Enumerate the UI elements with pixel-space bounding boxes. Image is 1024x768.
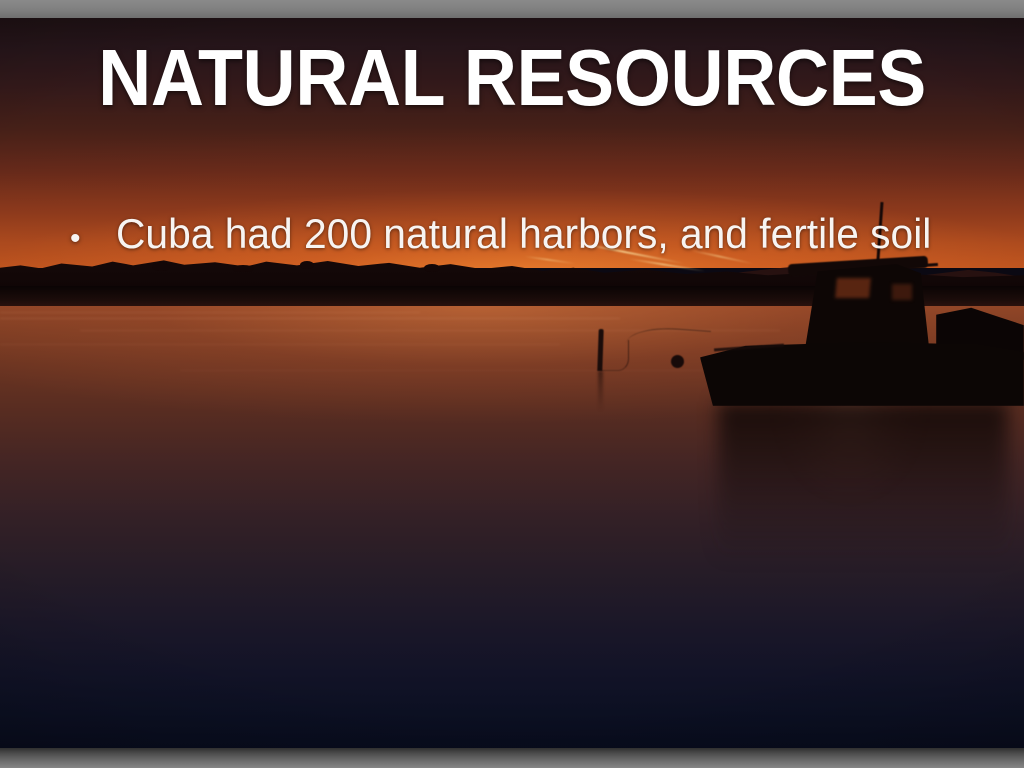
bullet-list: • Cuba had 200 natural harbors, and fert… (58, 208, 1008, 265)
bullet-list-item-text: Cuba had 200 natural harbors, and fertil… (116, 208, 931, 260)
water-sheen-line (0, 312, 420, 313)
boat-window (835, 278, 871, 298)
bullet-list-item: • Cuba had 200 natural harbors, and fert… (58, 208, 1008, 265)
slide-viewer: NATURAL RESOURCES • Cuba had 200 natural… (0, 0, 1024, 768)
treetop-silhouette (424, 264, 440, 272)
mooring-post-reflection (598, 371, 603, 411)
presentation-top-bar (0, 0, 1024, 18)
boat-hull (700, 342, 1024, 406)
presentation-bottom-bar (0, 748, 1024, 768)
water-sheen-line (0, 318, 620, 319)
slide-title: NATURAL RESOURCES (41, 36, 983, 120)
boat-silhouette (700, 250, 1024, 480)
boat-reflection (718, 402, 1008, 562)
bullet-point-icon: • (58, 213, 116, 265)
boat-window (892, 284, 912, 300)
slide-canvas: NATURAL RESOURCES • Cuba had 200 natural… (0, 18, 1024, 748)
water-sheen-line (0, 344, 560, 345)
treetop-silhouette (232, 265, 254, 272)
